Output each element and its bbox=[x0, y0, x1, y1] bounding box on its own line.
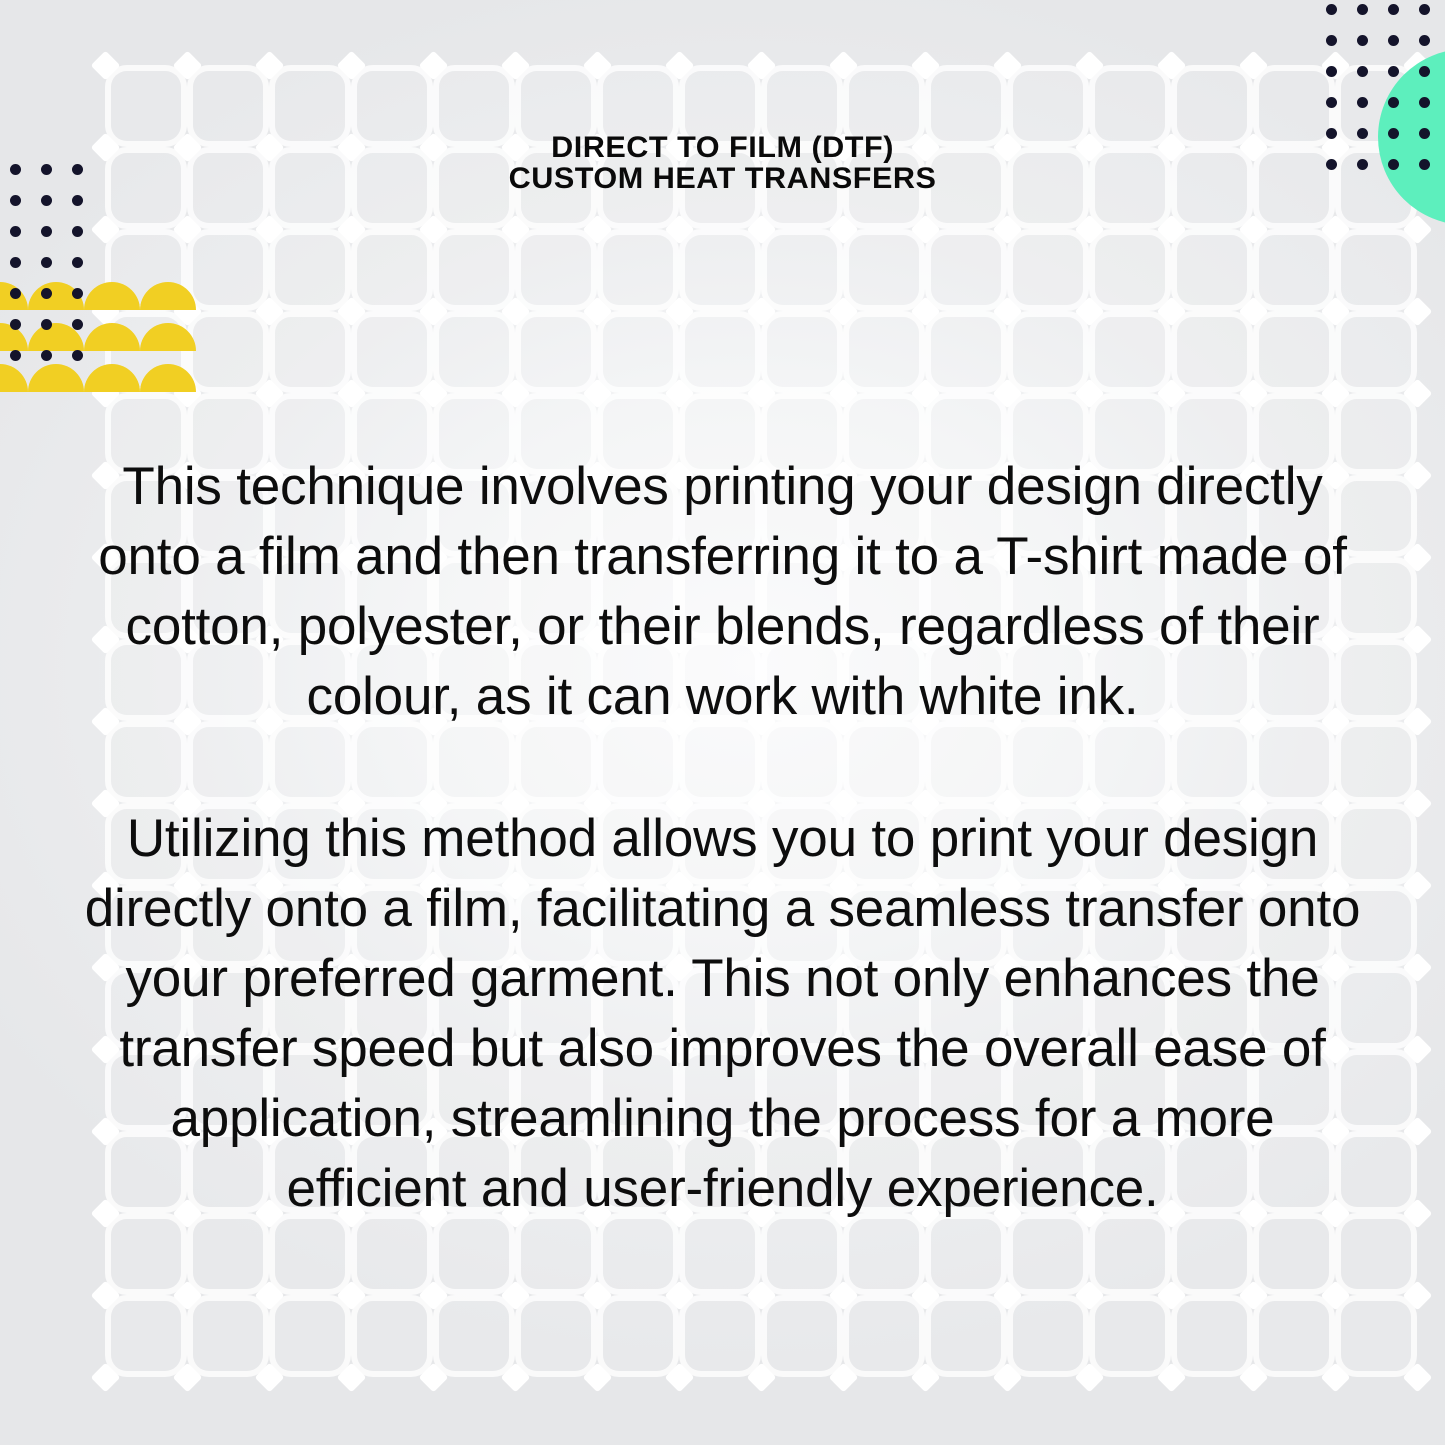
body-copy: This technique involves printing your de… bbox=[84, 452, 1361, 1224]
poster-canvas: DIRECT TO FILM (DTF) CUSTOM HEAT TRANSFE… bbox=[0, 0, 1445, 1445]
page-title: DIRECT TO FILM (DTF) CUSTOM HEAT TRANSFE… bbox=[0, 133, 1445, 194]
paragraph-1: This technique involves printing your de… bbox=[84, 452, 1361, 732]
poster-content: DIRECT TO FILM (DTF) CUSTOM HEAT TRANSFE… bbox=[0, 0, 1445, 1445]
title-line-2: CUSTOM HEAT TRANSFERS bbox=[47, 164, 1399, 195]
paragraph-2: Utilizing this method allows you to prin… bbox=[84, 804, 1361, 1224]
title-line-1: DIRECT TO FILM (DTF) bbox=[47, 133, 1399, 164]
